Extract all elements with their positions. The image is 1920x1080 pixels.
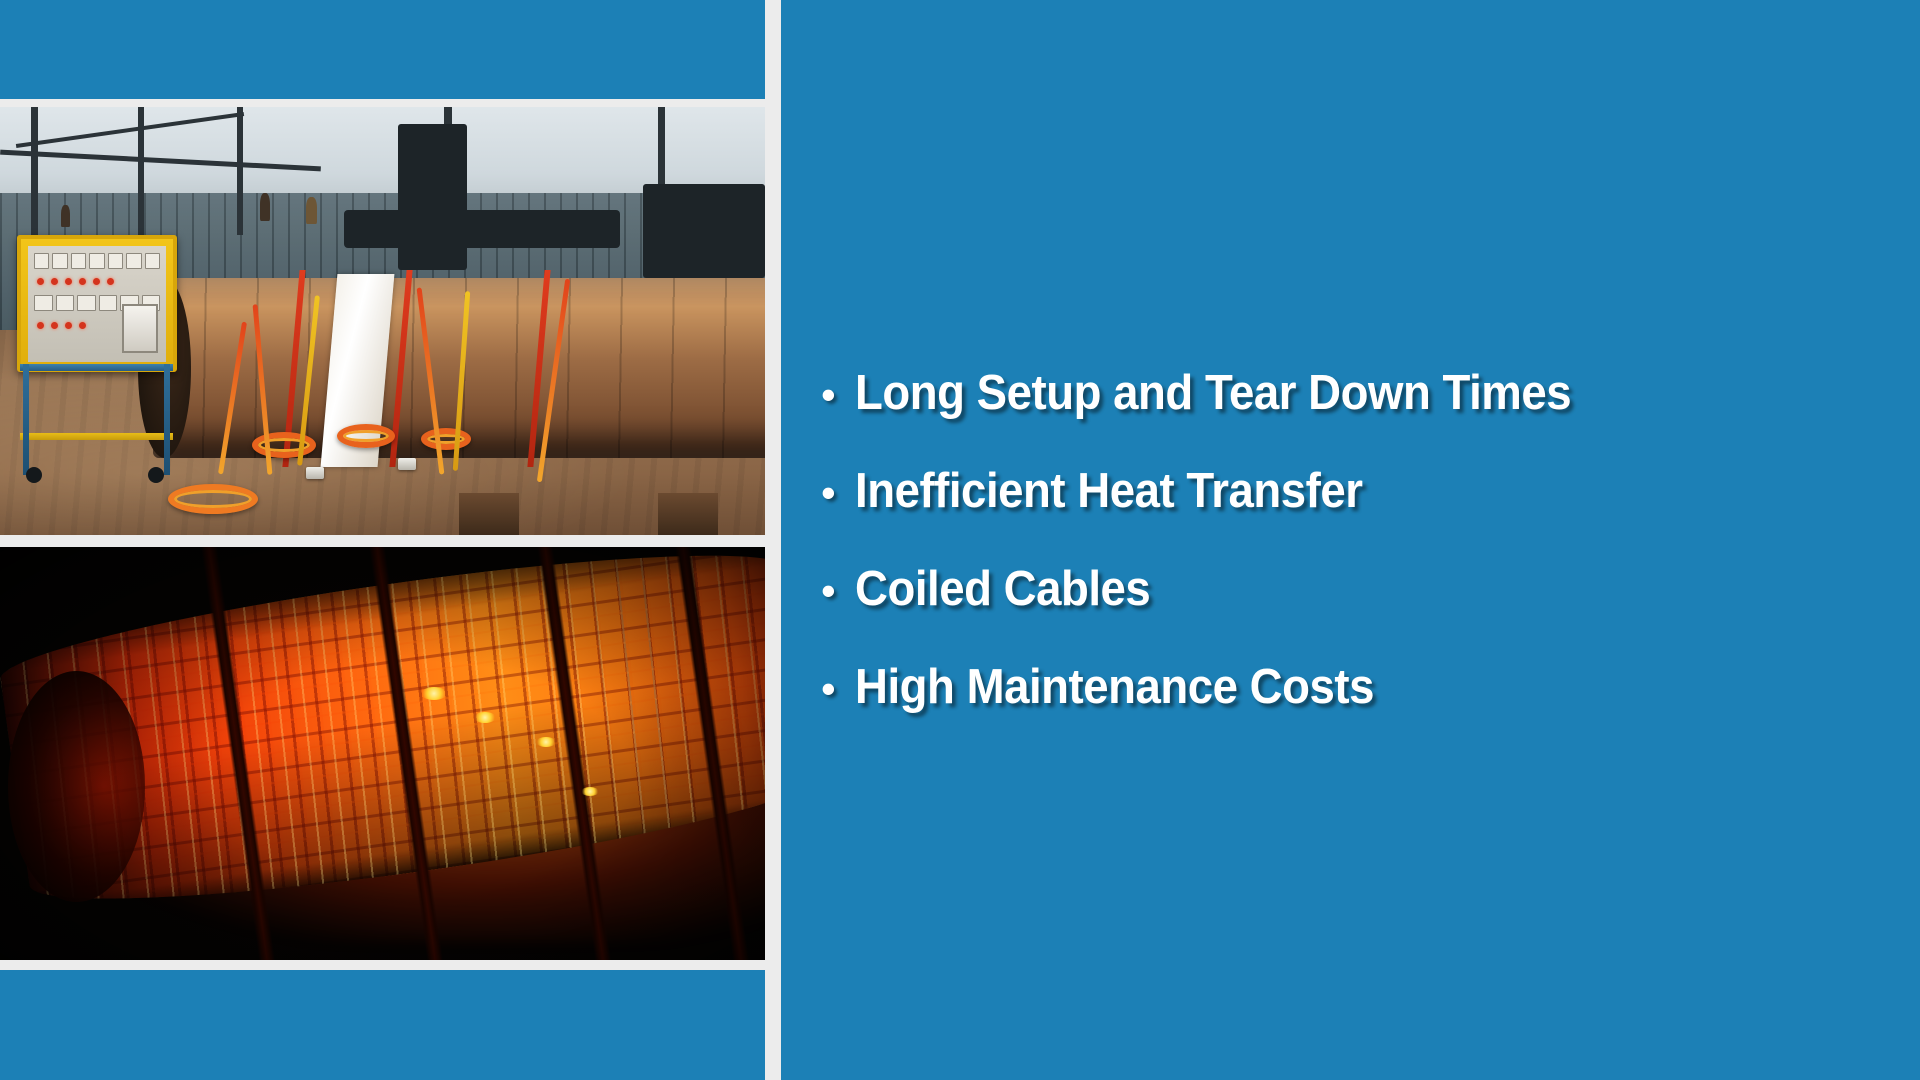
- bullet-dot-icon: •: [821, 570, 855, 612]
- bullet-dot-icon: •: [821, 374, 855, 416]
- coiled-cable: [337, 424, 395, 448]
- bullet-label: Long Setup and Tear Down Times: [855, 365, 1571, 421]
- vertical-divider: [765, 0, 781, 1080]
- crane-boom: [344, 210, 619, 249]
- bullet-dot-icon: •: [821, 472, 855, 514]
- bullet-item-2: • Inefficient Heat Transfer: [821, 463, 1880, 519]
- photo-vignette: [0, 547, 765, 960]
- cable-connector: [306, 467, 324, 479]
- slide-canvas: • Long Setup and Tear Down Times • Ineff…: [0, 0, 1920, 1080]
- bullet-list: • Long Setup and Tear Down Times • Ineff…: [781, 0, 1920, 1080]
- bullet-item-3: • Coiled Cables: [821, 561, 1880, 617]
- pipe-support-block: [658, 493, 718, 535]
- photo-separator-top: [0, 99, 765, 107]
- coiled-cable: [168, 484, 258, 514]
- bullet-label: High Maintenance Costs: [855, 659, 1374, 715]
- glowing-ceramic-heater-photo: [0, 547, 765, 960]
- dark-machinery: [643, 184, 765, 278]
- cable-connector: [398, 458, 416, 470]
- bullet-label: Coiled Cables: [855, 561, 1150, 617]
- pipe-support-block: [459, 493, 519, 535]
- steel-column: [237, 107, 243, 235]
- bullet-item-4: • High Maintenance Costs: [821, 659, 1880, 715]
- worker-silhouette: [260, 193, 270, 221]
- pipe-welding-photo: [0, 107, 765, 535]
- bullet-dot-icon: •: [821, 668, 855, 710]
- photo-separator-bottom: [0, 960, 765, 970]
- bullet-label: Inefficient Heat Transfer: [855, 463, 1363, 519]
- yellow-control-console: [17, 235, 178, 372]
- coiled-cable: [421, 428, 471, 450]
- console-face: [28, 246, 165, 362]
- worker-silhouette: [61, 205, 70, 227]
- image-column: [0, 0, 765, 1080]
- bullet-item-1: • Long Setup and Tear Down Times: [821, 365, 1880, 421]
- console-meter: [122, 304, 158, 353]
- equipment-cart: [20, 364, 173, 475]
- photo-separator-middle: [0, 535, 765, 547]
- worker-silhouette: [306, 197, 317, 224]
